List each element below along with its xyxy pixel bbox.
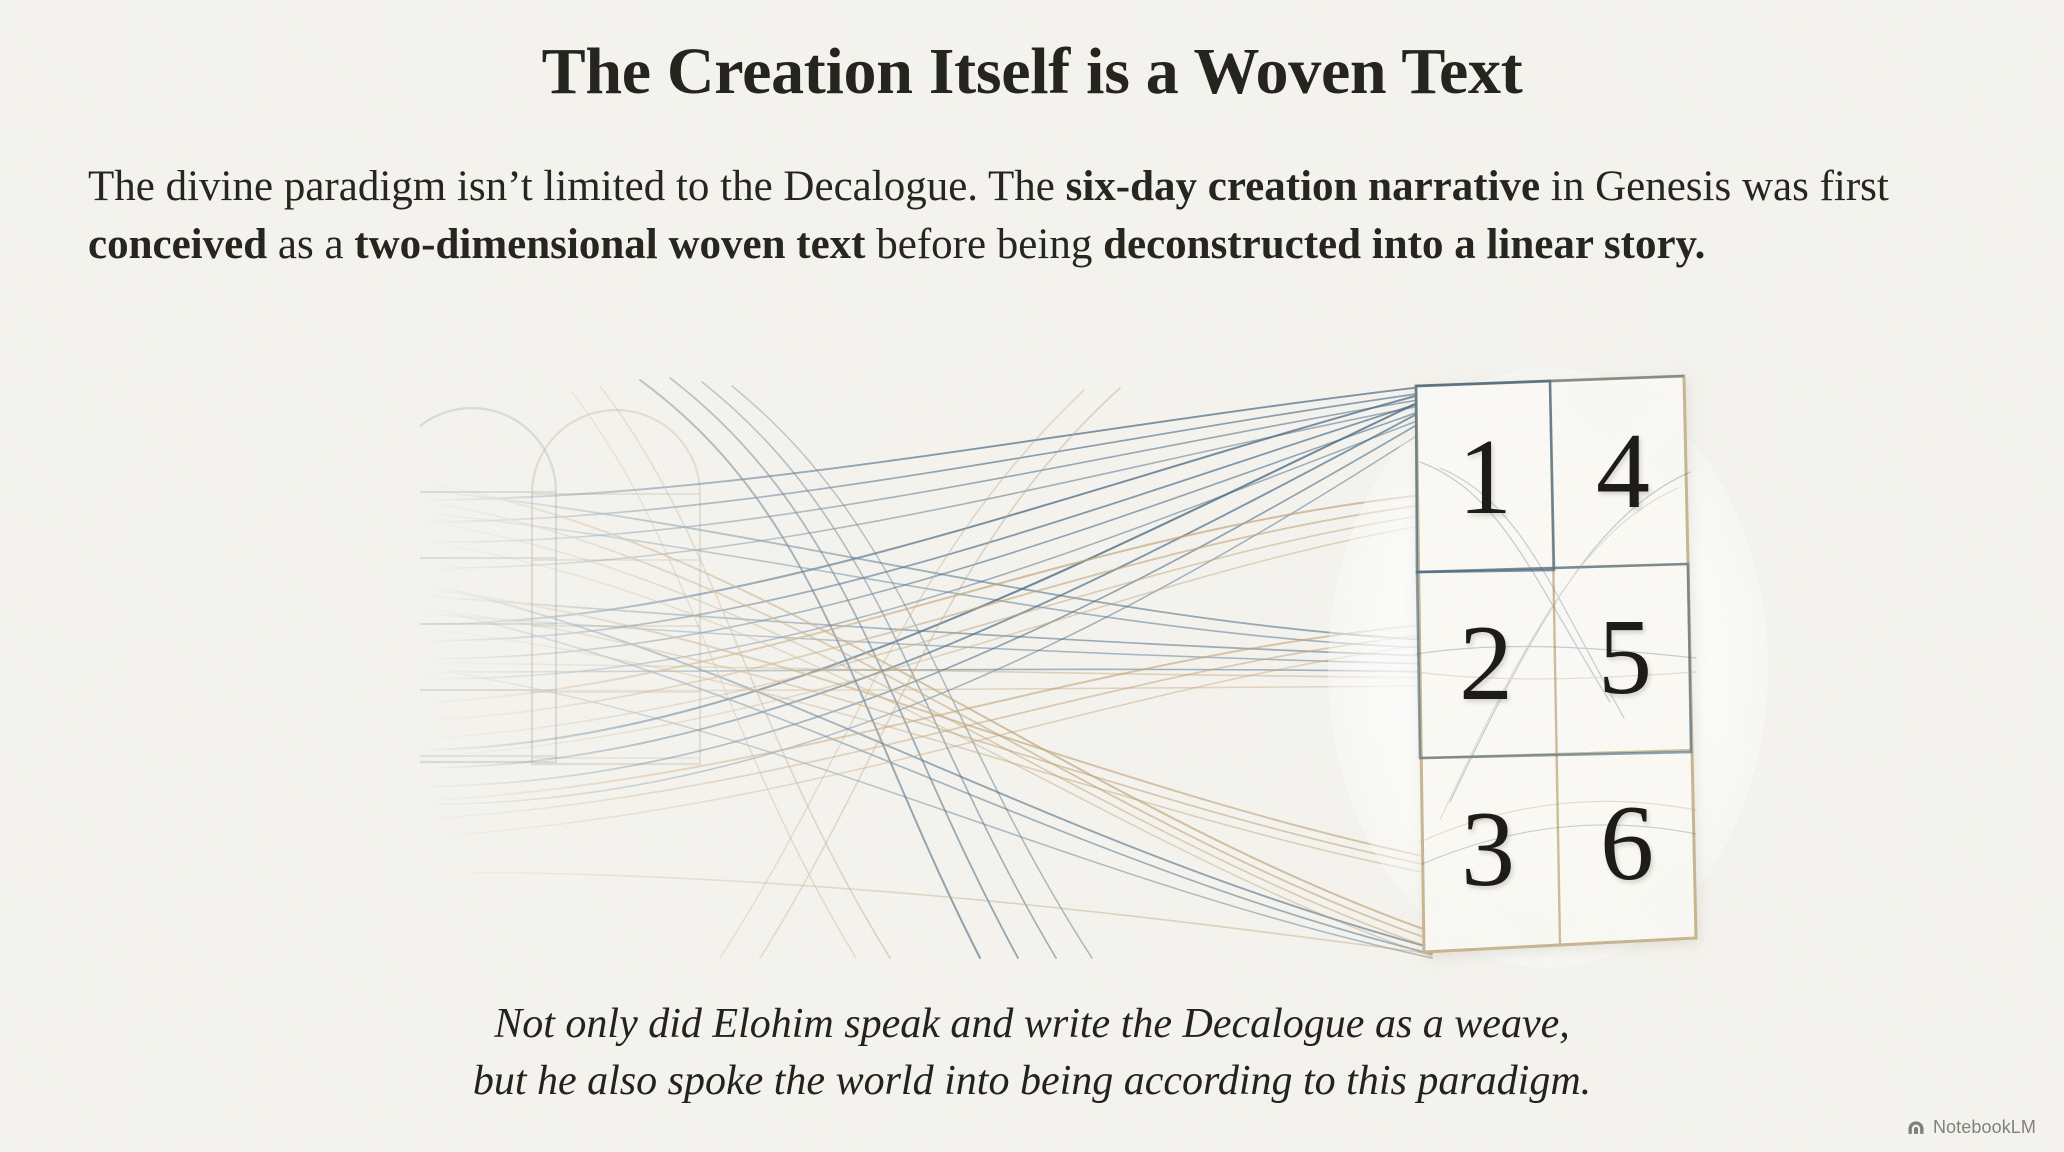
stone-tablet-left <box>388 408 556 762</box>
body-paragraph: The divine paradigm isn’t limited to the… <box>88 158 1988 275</box>
slide-root: The Creation Itself is a Woven Text The … <box>0 0 2064 1152</box>
page-title: The Creation Itself is a Woven Text <box>0 36 2064 109</box>
caption-line-1: Not only did Elohim speak and write the … <box>0 996 2064 1053</box>
body-emphasis-six-day: six-day creation narrative <box>1066 163 1541 210</box>
weave-illustration: 1 4 2 5 3 6 <box>420 372 1660 962</box>
notebooklm-label: NotebookLM <box>1933 1117 2036 1138</box>
notebooklm-spiral-icon <box>1906 1118 1926 1138</box>
caption-line-2: but he also spoke the world into being a… <box>0 1053 2064 1110</box>
body-emphasis-deconstructed: deconstructed into a linear story. <box>1103 221 1705 268</box>
body-segment-7: before being <box>865 221 1103 268</box>
body-segment-3: in Genesis was first <box>1540 163 1889 210</box>
body-segment-5: as a <box>267 221 354 268</box>
body-segment-1: The divine paradigm isn’t limited to the… <box>88 163 1066 210</box>
notebooklm-watermark: NotebookLM <box>1906 1117 2036 1138</box>
woven-threads-group <box>400 378 1432 958</box>
caption-block: Not only did Elohim speak and write the … <box>0 996 2064 1110</box>
body-emphasis-woven-text: two-dimensional woven text <box>354 221 865 268</box>
creation-grid <box>1416 376 1696 952</box>
body-emphasis-conceived: conceived <box>88 221 267 268</box>
weave-diagram <box>420 372 1660 962</box>
